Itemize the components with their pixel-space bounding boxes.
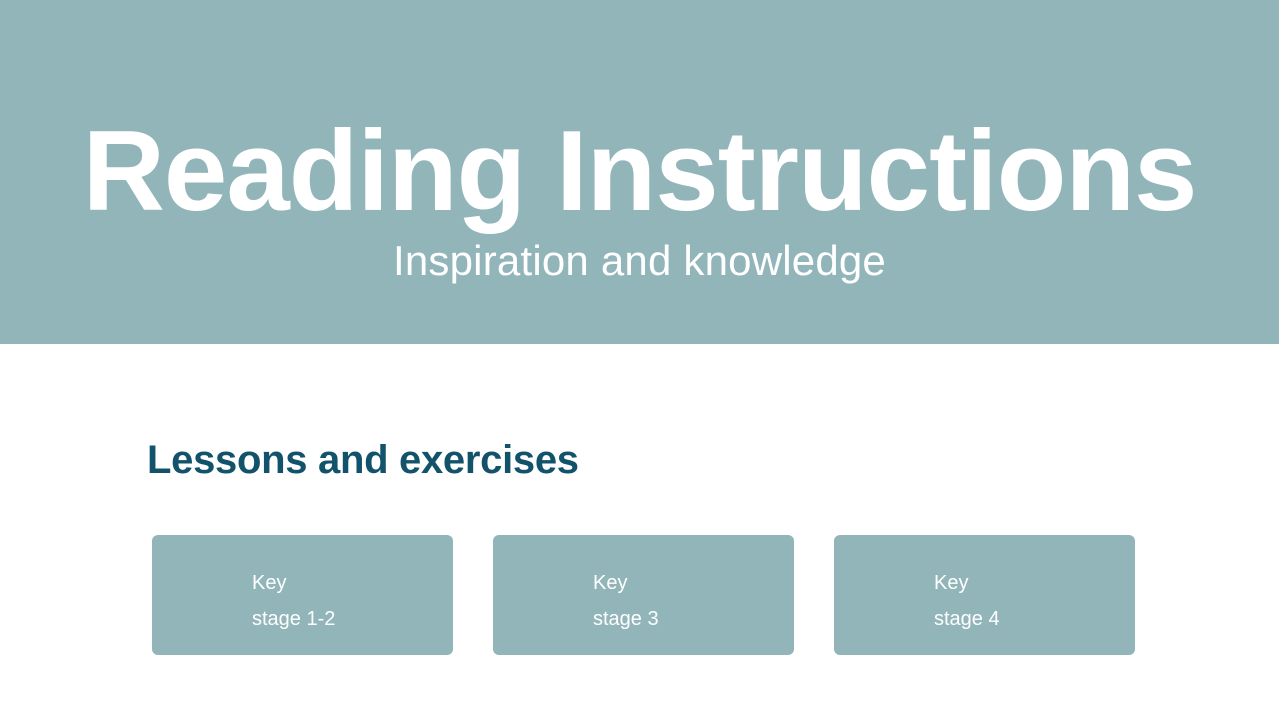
card-label-line1: Key bbox=[934, 565, 1135, 601]
page-subtitle: Inspiration and knowledge bbox=[0, 236, 1279, 286]
card-key-stage-1-2[interactable]: Key stage 1-2 bbox=[152, 535, 453, 655]
card-label-line1: Key bbox=[593, 565, 794, 601]
card-key-stage-3[interactable]: Key stage 3 bbox=[493, 535, 794, 655]
page-root: Reading Instructions Inspiration and kno… bbox=[0, 0, 1279, 714]
page-title: Reading Instructions bbox=[0, 102, 1279, 241]
lesson-card-list: Key stage 1-2 Key stage 3 Key stage 4 bbox=[152, 535, 1135, 655]
card-label-line2: stage 4 bbox=[934, 601, 1135, 637]
card-label-line2: stage 3 bbox=[593, 601, 794, 637]
card-label-line1: Key bbox=[252, 565, 453, 601]
card-label-line2: stage 1-2 bbox=[252, 601, 453, 637]
card-key-stage-4[interactable]: Key stage 4 bbox=[834, 535, 1135, 655]
main-content: Lessons and exercises Key stage 1-2 Key … bbox=[0, 344, 1279, 714]
section-title-lessons-and-exercises: Lessons and exercises bbox=[147, 436, 579, 484]
hero-banner: Reading Instructions Inspiration and kno… bbox=[0, 0, 1279, 344]
